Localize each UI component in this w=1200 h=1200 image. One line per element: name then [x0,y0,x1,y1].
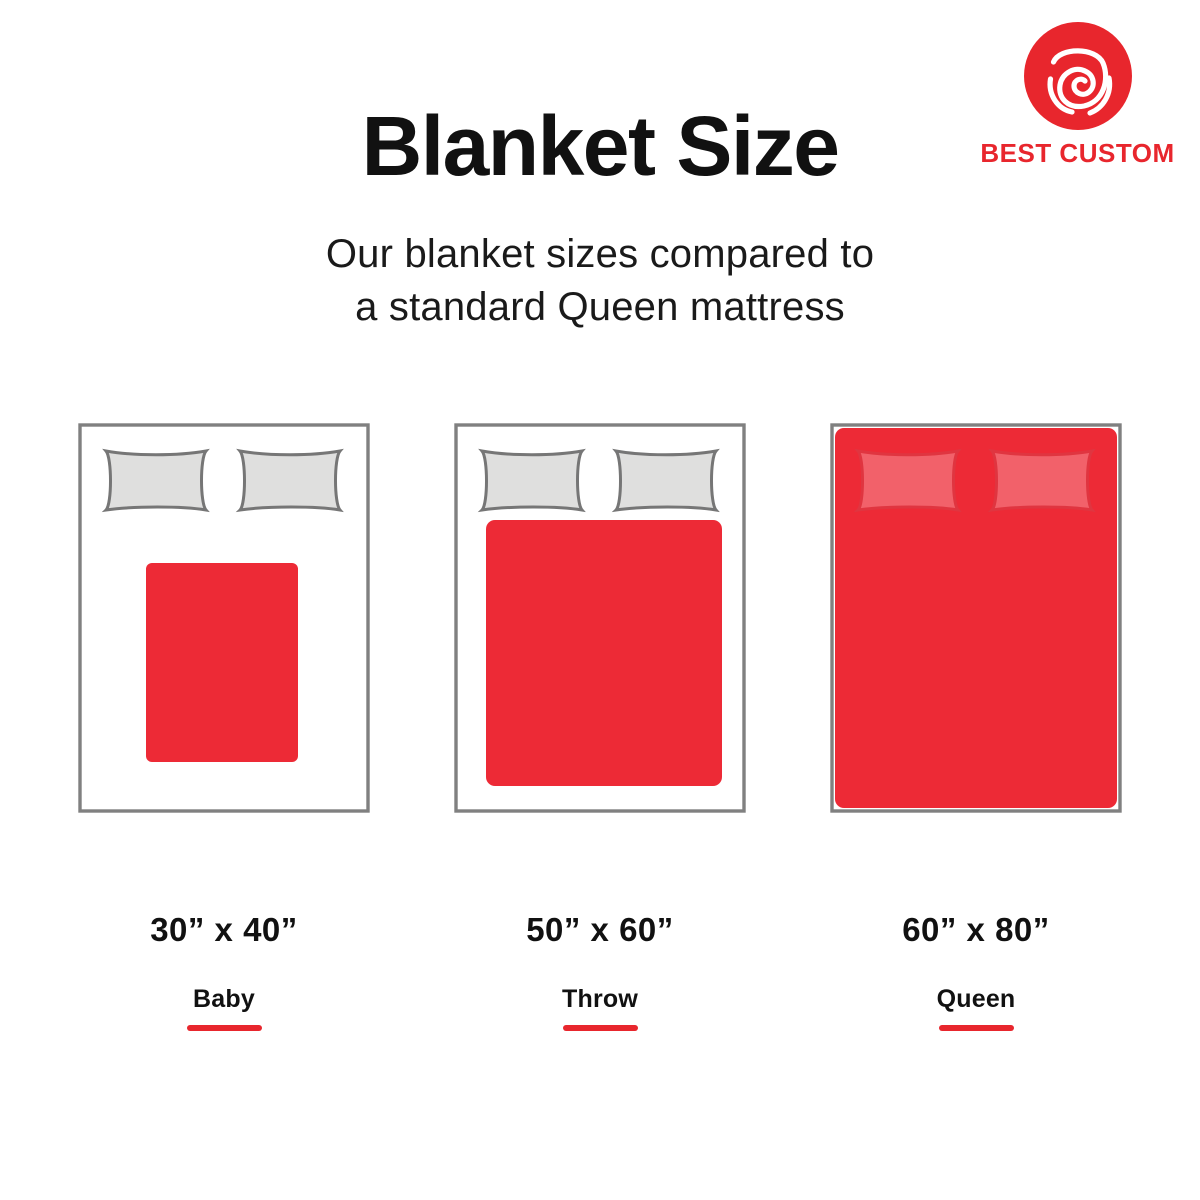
pillow-right-throw [616,451,716,510]
pillow-left-queen [858,451,958,510]
size-label-baby: 30” x 40” [150,911,298,949]
blanket-throw [486,520,722,786]
subtitle-line-1: Our blanket sizes compared to [0,228,1200,281]
name-label-queen: Queen [937,985,1016,1014]
size-label-throw: 50” x 60” [526,911,674,949]
bed-illustration-throw [454,420,746,816]
bed-diagram-throw [454,420,746,816]
name-underline-queen [939,1025,1014,1031]
size-label-queen: 60” x 80” [902,911,1050,949]
bed-column-queen: 60” x 80” Queen [830,420,1122,1031]
name-label-throw: Throw [562,985,638,1014]
bed-column-baby: 30” x 40” Baby [78,420,370,1031]
name-underline-throw [563,1025,638,1031]
bed-illustration-queen [830,420,1122,816]
name-underline-baby [187,1025,262,1031]
bed-column-throw: 50” x 60” Throw [454,420,746,1031]
bed-diagram-baby [78,420,370,816]
bed-illustration-baby [78,420,370,816]
name-label-baby: Baby [193,985,255,1014]
pillow-left-throw [482,451,582,510]
page-title: Blanket Size [0,104,1200,188]
pillow-left-baby [106,451,206,510]
bed-diagram-queen [830,420,1122,816]
blanket-baby [146,563,298,762]
page-subtitle: Our blanket sizes compared to a standard… [0,228,1200,334]
pillow-right-queen [992,451,1092,510]
pillow-right-baby [240,451,340,510]
bed-comparison-row: 30” x 40” Baby 50” x 60” Throw 60” [0,420,1200,1031]
subtitle-line-2: a standard Queen mattress [0,281,1200,334]
